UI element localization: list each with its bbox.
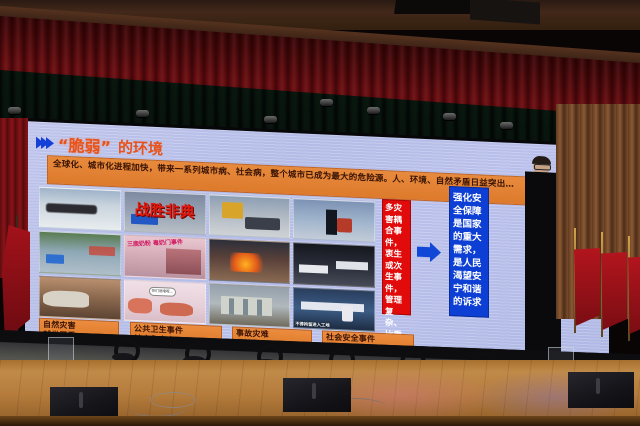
photo-pig-cartoon: 你们说啥呢… — [124, 279, 206, 324]
presentation-slide[interactable]: “脆弱” 的环境 全球化、城市化进程加快，带来一系列城市病、社会病，整个城市已成… — [25, 121, 609, 366]
photo-sanlu-milk-powder: 三鹿奶粉 毒奶门事件 — [124, 235, 206, 280]
stage-front-edge — [0, 416, 640, 426]
led-screen[interactable]: “脆弱” 的环境 全球化、城市化进程加快，带来一系列城市病、社会病，整个城市已成… — [22, 118, 612, 369]
speech-bubble: 你们说啥呢… — [149, 287, 177, 297]
stage-monitor-speaker — [283, 378, 351, 412]
ceiling-spotlight — [320, 99, 333, 106]
photo-fire-explosion — [209, 239, 291, 284]
red-flag — [601, 252, 627, 330]
photo-flooded-village — [39, 231, 121, 276]
photo-bus-crash — [209, 194, 291, 239]
ceiling-spotlight — [264, 116, 277, 123]
stage-monitor-speaker — [568, 372, 634, 408]
ceiling-spotlight — [500, 122, 513, 129]
photo-flood-rescue — [293, 198, 375, 243]
ceiling-spotlight — [136, 110, 149, 117]
stage-cable-loop — [150, 392, 196, 408]
photo-dead-fish-pollution — [39, 275, 121, 320]
chevron-right-icon — [39, 137, 54, 150]
ceiling-spotlight — [367, 107, 380, 114]
red-flag — [628, 256, 640, 334]
photo-collapsed-building — [209, 283, 291, 328]
auditorium-scene: “脆弱” 的环境 全球化、城市化进程加快，带来一系列城市病、社会病，整个城市已成… — [0, 0, 640, 426]
glasses-icon — [534, 164, 551, 171]
red-flag — [574, 248, 600, 326]
photo-snow-disaster — [39, 187, 121, 232]
photo-sars-campaign: 战胜非典 — [124, 191, 206, 236]
photo-caption: 不得拘留进入工地 — [295, 322, 329, 329]
slide-title-rest: 的环境 — [118, 136, 163, 159]
photo-night-protest — [293, 242, 375, 287]
slide-title-quoted: “脆弱” — [58, 132, 111, 158]
photo-grid: 战胜非典 三鹿奶粉 毒奶门事件 你们说啥呢… 不得拘留进入工地 — [39, 187, 375, 332]
ceiling-spotlight — [443, 113, 456, 120]
photo-overlay-small: 三鹿奶粉 毒奶门事件 — [127, 239, 184, 249]
photo-construction-site-protest: 不得拘留进入工地 — [293, 287, 375, 332]
photo-overlay-text: 战胜非典 — [135, 199, 195, 223]
ceiling-spotlight — [8, 107, 21, 114]
red-callout-box: 多灾害耦合事件，衷生或次生事件，管理复杂、比重增加 — [382, 199, 411, 315]
red-flag — [2, 225, 30, 340]
blue-callout-box: 强化安全保障是国家的重大需求，是人民渴望安宁和谐的诉求 — [449, 186, 489, 318]
